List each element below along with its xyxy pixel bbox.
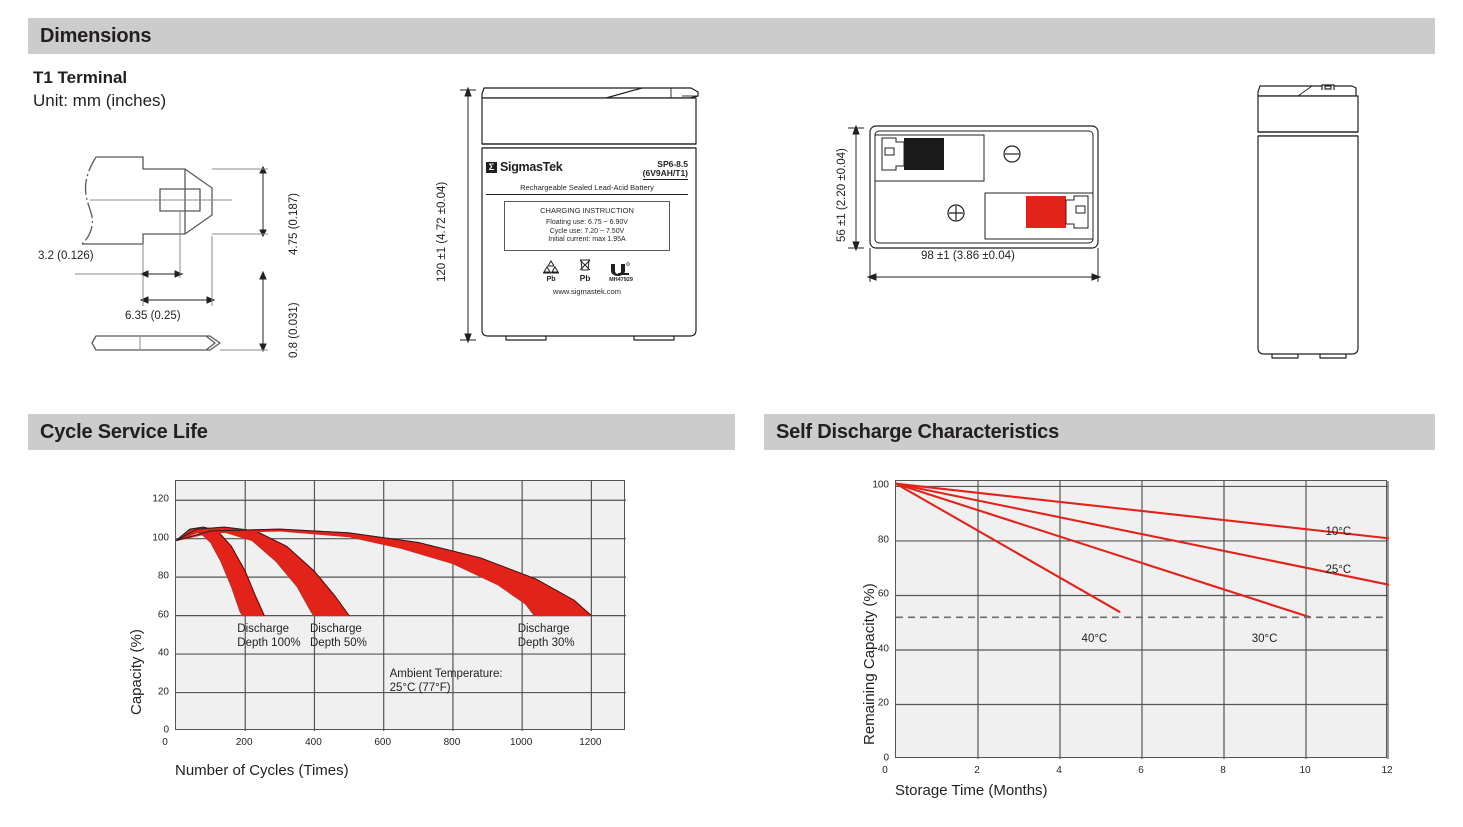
cycle-annotation-2: Discharge Depth 30%: [518, 622, 575, 650]
cycle-y-tick: 80: [143, 571, 169, 582]
t1-terminal-drawing: 4.75 (0.187) 0.8 (0.031) 3.2 (0.126) 6.3…: [60, 140, 330, 365]
terminal-offset-dimension: 3.2 (0.126): [38, 250, 94, 262]
battery-top-outline: [866, 110, 1106, 290]
cycle-y-tick: 0: [143, 725, 169, 736]
self-series-label-2: 40°C: [1082, 633, 1108, 645]
self-y-tick: 80: [863, 534, 889, 545]
cycle-y-tick: 120: [143, 494, 169, 505]
self-x-tick: 4: [1056, 765, 1062, 776]
battery-height-dimension: 120 ±1 (4.72 ±0.04): [436, 182, 448, 282]
bin-pb-text: Pb: [577, 273, 593, 283]
charging-instruction-title: CHARGING INSTRUCTION: [507, 206, 667, 215]
self-discharge-plot-area: [895, 480, 1387, 758]
self-x-tick: 0: [882, 765, 888, 776]
ul-listed-icon: [609, 261, 631, 277]
battery-website: www.sigmastek.com: [478, 287, 696, 296]
self-series-label-3: 30°C: [1252, 633, 1278, 645]
battery-type-text: Rechargeable Sealed Lead-Acid Battery: [486, 183, 688, 195]
cycle-section-title: Cycle Service Life: [28, 421, 208, 444]
section-header-dimensions: Dimensions: [28, 18, 1435, 54]
self-x-tick: 10: [1299, 765, 1310, 776]
cycle-y-axis-title: Capacity (%): [128, 629, 145, 715]
cycle-y-tick: 60: [143, 609, 169, 620]
self-discharge-section-title: Self Discharge Characteristics: [764, 421, 1059, 444]
cycle-annotation-1: Discharge Depth 50%: [310, 622, 367, 650]
cycle-y-tick: 40: [143, 648, 169, 659]
terminal-type-title: T1 Terminal: [33, 68, 127, 88]
self-y-axis-title: Remaining Capacity (%): [861, 583, 878, 745]
terminal-width-dimension: 6.35 (0.25): [125, 310, 181, 322]
cycle-y-tick: 20: [143, 686, 169, 697]
cycle-x-tick: 1000: [510, 737, 532, 748]
unit-label: Unit: mm (inches): [33, 91, 166, 111]
terminal-thickness-dimension: 0.8 (0.031): [288, 302, 300, 358]
cycle-x-tick: 1200: [579, 737, 601, 748]
no-trash-mark: Pb: [577, 257, 593, 283]
recycle-pb-text: Pb: [541, 276, 561, 283]
section-header-cycle-service-life: Cycle Service Life: [28, 414, 735, 450]
self-x-tick: 6: [1138, 765, 1144, 776]
crossed-bin-icon: [577, 257, 593, 273]
charging-line-0: Floating use: 6.75 ~ 6.90V: [507, 219, 667, 228]
battery-top-view: 56 ±1 (2.20 ±0.04): [826, 110, 1146, 290]
self-x-axis-title: Storage Time (Months): [895, 782, 1048, 799]
self-x-tick: 2: [974, 765, 980, 776]
self-x-tick: 12: [1381, 765, 1392, 776]
cycle-x-axis-title: Number of Cycles (Times): [175, 762, 349, 779]
sigmastek-logo-icon: Σ: [486, 162, 497, 173]
recycle-icon: [541, 260, 561, 276]
brand-name: SigmasTek: [500, 160, 562, 174]
self-plot-svg: [896, 481, 1388, 759]
cycle-annotation-0: Discharge Depth 100%: [237, 622, 300, 650]
cycle-x-tick: 0: [162, 737, 168, 748]
charging-instruction-box: CHARGING INSTRUCTION Floating use: 6.75 …: [504, 201, 670, 251]
battery-width-dimension: 98 ±1 (3.86 ±0.04): [921, 250, 1015, 262]
ul-file-number: MH47929: [609, 277, 633, 283]
battery-side-view: [1248, 80, 1378, 370]
self-series-label-1: 25°C: [1326, 564, 1352, 576]
cycle-y-tick: 100: [143, 532, 169, 543]
charging-line-2: Initial current: max 1.95A: [507, 236, 667, 245]
terminal-height-dimension: 4.75 (0.187): [288, 193, 300, 255]
battery-side-outline: [1248, 80, 1378, 370]
self-discharge-chart: 024681012 020406080100 10°C25°C40°C30°C …: [855, 470, 1445, 810]
cycle-service-life-chart: 020040060080010001200 020406080100120 Di…: [120, 470, 740, 810]
battery-front-view: 120 ±1 (4.72 ±0.04) Σ SigmasTek: [418, 82, 718, 352]
charging-line-1: Cycle use: 7.20 ~ 7.50V: [507, 228, 667, 237]
battery-spec: (6V9AH/T1): [643, 169, 688, 178]
cycle-x-tick: 800: [444, 737, 461, 748]
self-x-tick: 8: [1220, 765, 1226, 776]
self-series-label-0: 10°C: [1326, 526, 1352, 538]
cycle-x-tick: 400: [305, 737, 322, 748]
ul-mark: MH47929: [609, 261, 633, 283]
battery-label: Σ SigmasTek SP6-8.5 (6V9AH/T1) Rechargea…: [478, 160, 696, 296]
cycle-x-tick: 600: [374, 737, 391, 748]
cycle-x-tick: 200: [236, 737, 253, 748]
cycle-annotation-3: Ambient Temperature: 25°C (77°F): [390, 667, 503, 695]
section-header-self-discharge: Self Discharge Characteristics: [764, 414, 1435, 450]
self-y-tick: 100: [863, 480, 889, 491]
recycle-mark: Pb: [541, 260, 561, 283]
battery-depth-dimension: 56 ±1 (2.20 ±0.04): [836, 148, 848, 242]
page-title: Dimensions: [28, 25, 151, 48]
self-y-tick: 0: [863, 753, 889, 764]
